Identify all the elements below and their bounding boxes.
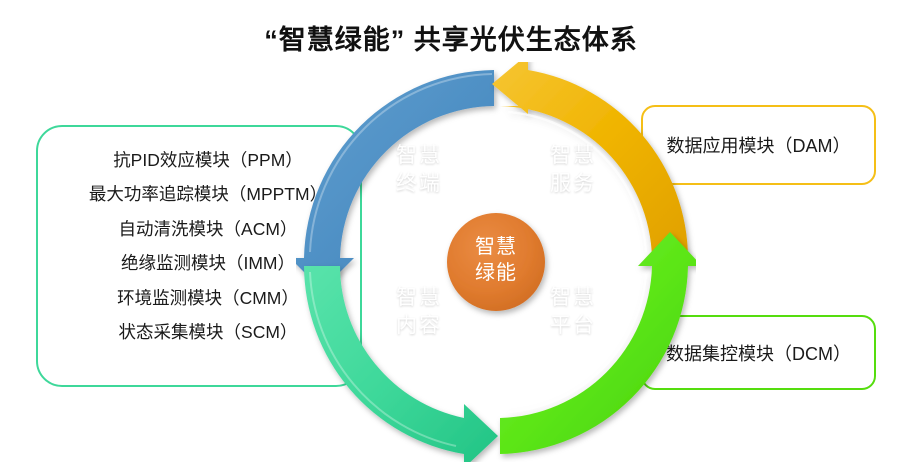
quadrant-label-top-right: 智慧 服务 xyxy=(528,142,618,199)
cycle-ring-diagram: 智慧 终端 智慧 服务 智慧 内容 智慧 平台 智慧 绿能 xyxy=(296,62,696,462)
hub-label-line1: 智慧 xyxy=(448,234,544,260)
quadrant-label-line1: 智慧 xyxy=(374,142,464,170)
hub-label-line2: 绿能 xyxy=(448,260,544,286)
quadrant-label-line2: 内容 xyxy=(374,312,464,340)
quadrant-label-line1: 智慧 xyxy=(528,284,618,312)
page-title: “智慧绿能” 共享光伏生态体系 xyxy=(0,18,902,57)
quadrant-label-line1: 智慧 xyxy=(528,142,618,170)
quadrant-label-line2: 平台 xyxy=(528,312,618,340)
quadrant-label-bottom-left: 智慧 内容 xyxy=(374,284,464,341)
hub-label: 智慧 绿能 xyxy=(448,234,544,286)
quadrant-label-line1: 智慧 xyxy=(374,284,464,312)
quadrant-label-top-left: 智慧 终端 xyxy=(374,142,464,199)
quadrant-label-line2: 终端 xyxy=(374,170,464,198)
diagram-canvas: “智慧绿能” 共享光伏生态体系 抗PID效应模块（PPM） 最大功率追踪模块（M… xyxy=(0,0,902,459)
quadrant-label-bottom-right: 智慧 平台 xyxy=(528,284,618,341)
quadrant-label-line2: 服务 xyxy=(528,170,618,198)
